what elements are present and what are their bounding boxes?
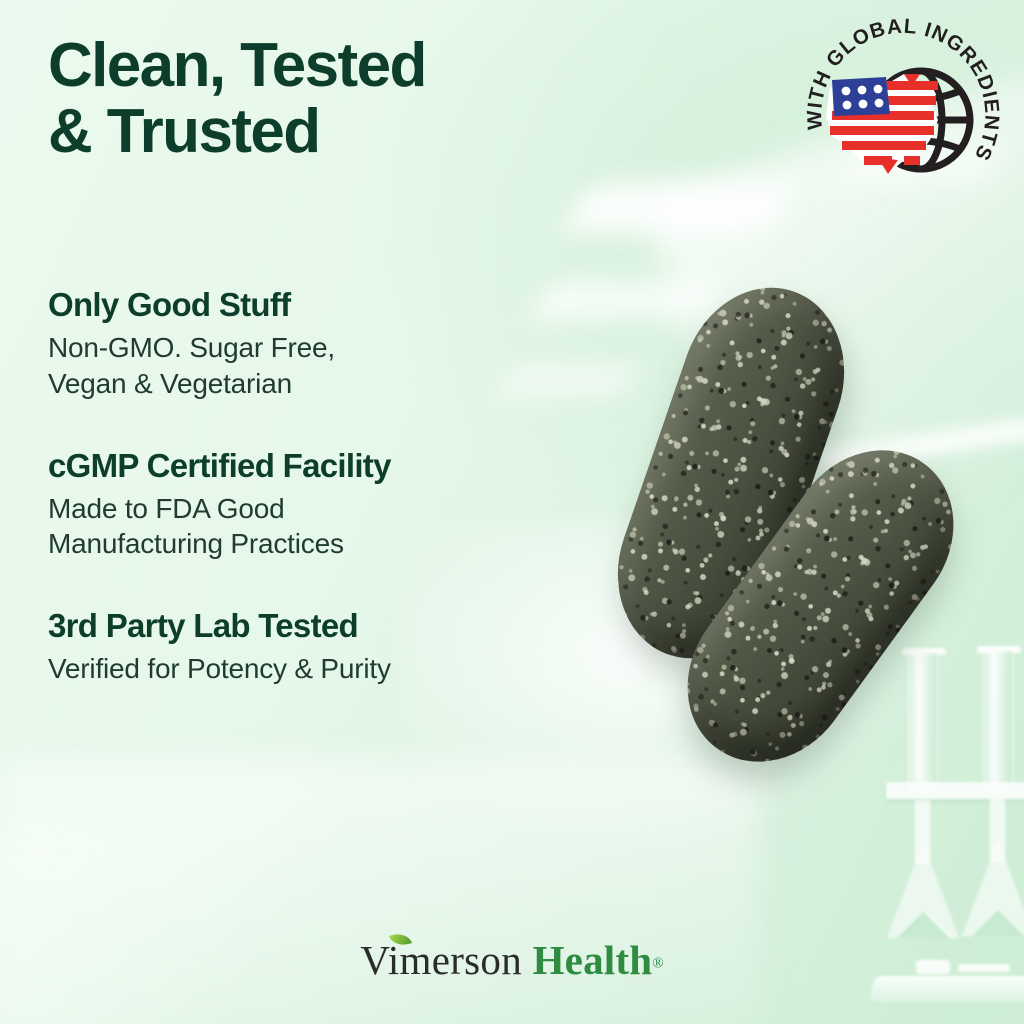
- logo-word-health: Health: [533, 937, 653, 983]
- test-tube: [908, 652, 938, 792]
- usa-flag-map-icon: [826, 74, 938, 174]
- global-ingredients-badge: WITH GLOBAL INGREDIENTS: [808, 24, 998, 209]
- feature-subtitle: Made to FDA Good Manufacturing Practices: [48, 491, 608, 563]
- feature-item-cgmp-certified-facility: cGMP Certified Facility Made to FDA Good…: [48, 447, 608, 563]
- feature-title: 3rd Party Lab Tested: [48, 607, 608, 646]
- test-tube: [983, 650, 1013, 792]
- feature-item-3rd-party-lab-tested: 3rd Party Lab Tested Verified for Potenc…: [48, 607, 608, 687]
- feature-list: Only Good Stuff Non-GMO. Sugar Free, Veg…: [48, 286, 608, 687]
- test-tube-rack: [886, 782, 1024, 799]
- feature-item-only-good-stuff: Only Good Stuff Non-GMO. Sugar Free, Veg…: [48, 286, 608, 402]
- feature-subtitle: Non-GMO. Sugar Free, Vegan & Vegetarian: [48, 330, 608, 402]
- logo-wordmark: Vimerson Health®: [360, 936, 663, 984]
- feature-subtitle: Verified for Potency & Purity: [48, 651, 608, 687]
- ceiling-light-panel: [564, 185, 791, 231]
- feature-title: Only Good Stuff: [48, 286, 608, 325]
- product-feature-poster: Clean, Tested & Trusted Only Good Stuff …: [0, 0, 1024, 1024]
- flask-liquid: [972, 910, 1024, 936]
- page-title: Clean, Tested & Trusted: [48, 33, 426, 164]
- logo-word-vimerson: Vimerson: [360, 937, 522, 983]
- flask-liquid: [897, 912, 949, 938]
- brand-logo: Vimerson Health®: [0, 936, 1024, 984]
- feature-title: cGMP Certified Facility: [48, 447, 608, 486]
- registered-trademark-mark: ®: [652, 956, 663, 972]
